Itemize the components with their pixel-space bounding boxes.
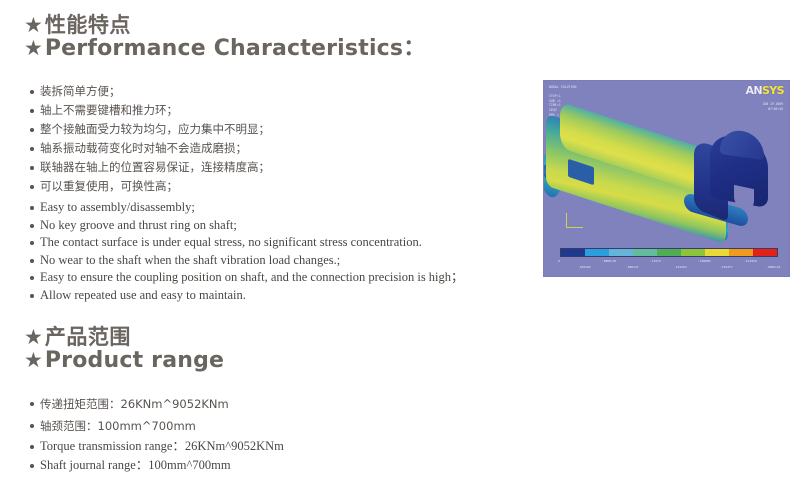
page-root: ★ 性能特点 ★ Performance Characteristics： 装拆… xyxy=(0,0,811,477)
list-item: 整个接触面受力较为均匀，应力集中不明显； xyxy=(30,120,270,139)
legend-label: .13273 xyxy=(650,259,661,263)
legend-label: .161952 xyxy=(674,265,687,269)
list-item-label: No key groove and thrust ring on shaft; xyxy=(40,217,237,235)
bullet-dot-icon xyxy=(30,90,34,94)
list-item-label: 联轴器在轴上的位置容易保证，连接精度高； xyxy=(40,158,270,177)
list-item-label: Torque transmission range：26KNm^9052KNm xyxy=(40,437,284,456)
bullet-dot-icon xyxy=(30,464,34,468)
ansys-logo: ANSYS xyxy=(745,84,784,97)
legend-labels-lower: .403182 .806147 .161952 .232277 .290E+01 xyxy=(554,265,788,271)
legend-band xyxy=(729,249,753,256)
ansys-logo-tail: SYS xyxy=(762,84,784,97)
legend-label: .806147 xyxy=(626,265,639,269)
list-item-label: 整个接触面受力较为均匀，应力集中不明显； xyxy=(40,120,270,139)
fea-date-text: JUN 19 2009 07:09:44 xyxy=(763,102,784,111)
bullet-dot-icon xyxy=(30,445,34,449)
list-item: The contact surface is under equal stres… xyxy=(30,234,464,252)
list-item-label: 装拆简单方便； xyxy=(40,82,121,101)
bullet-dot-icon xyxy=(30,259,34,263)
bullet-dot-icon xyxy=(30,241,34,245)
list-item: Easy to ensure the coupling position on … xyxy=(30,269,464,287)
star-icon: ★ xyxy=(24,350,43,371)
bullet-dot-icon xyxy=(30,276,34,280)
legend-band xyxy=(561,249,585,256)
list-item: 轴系振动载荷变化时对轴不会造成磨损； xyxy=(30,139,270,158)
legend-label: .403182 xyxy=(578,265,591,269)
legend-label: .199885 xyxy=(698,259,711,263)
legend-band xyxy=(681,249,705,256)
bullet-dot-icon xyxy=(30,294,34,298)
heading-en-text: Product range xyxy=(45,349,224,373)
ansys-fea-figure: NODAL SOLUTION STEP=1 SUB =1 TIME=1 SEQV… xyxy=(543,80,790,277)
list-item: No key groove and thrust ring on shaft; xyxy=(30,217,464,235)
legend-label: 0 xyxy=(558,259,560,263)
legend-label: .290E+01 xyxy=(766,265,780,269)
performance-bullets-cn: 装拆简单方便； 轴上不需要键槽和推力环； 整个接触面受力较为均匀，应力集中不明显… xyxy=(30,82,270,196)
bullet-dot-icon xyxy=(30,128,34,132)
heading-line-en-performance: ★ Performance Characteristics： xyxy=(24,37,425,61)
product-range-bullets-cn: 传递扭矩范围：26KNm^9052KNm 轴颈范围：100mm^700mm xyxy=(30,393,229,437)
list-item: Shaft journal range：100mm^700mm xyxy=(30,456,284,475)
list-item: 轴颈范围：100mm^700mm xyxy=(30,415,229,437)
fea-viewport: NODAL SOLUTION STEP=1 SUB =1 TIME=1 SEQV… xyxy=(544,81,789,276)
bullet-dot-icon xyxy=(30,224,34,228)
list-item-label: 轴上不需要键槽和推力环； xyxy=(40,101,178,120)
list-item: Allow repeated use and easy to maintain. xyxy=(30,287,464,305)
list-item: 联轴器在轴上的位置容易保证，连接精度高； xyxy=(30,158,270,177)
heading-line-en-product-range: ★ Product range xyxy=(24,349,224,373)
list-item-label: Allow repeated use and easy to maintain. xyxy=(40,287,246,305)
list-item-label: The contact surface is under equal stres… xyxy=(40,234,422,252)
list-item: Easy to assembly/disassembly; xyxy=(30,199,464,217)
ansys-logo-lead: AN xyxy=(745,84,762,97)
legend-label: .2x34%9 xyxy=(744,259,757,263)
legend-band xyxy=(585,249,609,256)
legend-label: .806E+07 xyxy=(602,259,616,263)
star-icon: ★ xyxy=(24,38,43,59)
bullet-dot-icon xyxy=(30,185,34,189)
bullet-dot-icon xyxy=(30,206,34,210)
list-item-label: 传递扭矩范围：26KNm^9052KNm xyxy=(40,393,229,415)
list-item-label: 可以重复使用，可换性高； xyxy=(40,177,178,196)
heading-cn-text: 性能特点 xyxy=(45,14,131,37)
list-item: Torque transmission range：26KNm^9052KNm xyxy=(30,437,284,456)
list-item: 装拆简单方便； xyxy=(30,82,270,101)
bullet-dot-icon xyxy=(30,424,34,428)
list-item-label: Shaft journal range：100mm^700mm xyxy=(40,456,231,475)
list-item-label: No wear to the shaft when the shaft vibr… xyxy=(40,252,340,270)
list-item: 轴上不需要键槽和推力环； xyxy=(30,101,270,120)
section-heading-product-range: ★ 产品范围 ★ Product range xyxy=(24,326,224,372)
list-item-label: 轴颈范围：100mm^700mm xyxy=(40,415,196,437)
list-item: No wear to the shaft when the shaft vibr… xyxy=(30,252,464,270)
product-range-bullets-en: Torque transmission range：26KNm^9052KNm … xyxy=(30,437,284,475)
legend-band xyxy=(705,249,729,256)
axes-triad-icon xyxy=(566,213,583,228)
list-item-label: Easy to assembly/disassembly; xyxy=(40,199,195,217)
heading-line-cn-performance: ★ 性能特点 xyxy=(24,14,425,37)
heading-cn-text: 产品范围 xyxy=(45,326,131,349)
legend-band xyxy=(633,249,657,256)
legend-label: .232277 xyxy=(720,265,733,269)
heading-line-cn-product-range: ★ 产品范围 xyxy=(24,326,224,349)
bullet-dot-icon xyxy=(30,109,34,113)
list-item-label: 轴系振动载荷变化时对轴不会造成磨损； xyxy=(40,139,247,158)
heading-en-text: Performance Characteristics： xyxy=(45,37,426,61)
bullet-dot-icon xyxy=(30,402,34,406)
legend-band xyxy=(609,249,633,256)
bullet-dot-icon xyxy=(30,166,34,170)
star-icon: ★ xyxy=(24,327,43,348)
list-item: 可以重复使用，可换性高； xyxy=(30,177,270,196)
bullet-dot-icon xyxy=(30,147,34,151)
star-icon: ★ xyxy=(24,15,43,36)
legend-band xyxy=(753,249,777,256)
list-item: 传递扭矩范围：26KNm^9052KNm xyxy=(30,393,229,415)
legend-band xyxy=(657,249,681,256)
list-item-label: Easy to ensure the coupling position on … xyxy=(40,269,464,287)
performance-bullets-en: Easy to assembly/disassembly; No key gro… xyxy=(30,199,464,304)
section-heading-performance: ★ 性能特点 ★ Performance Characteristics： xyxy=(24,14,425,60)
contour-legend-bar xyxy=(560,248,778,257)
